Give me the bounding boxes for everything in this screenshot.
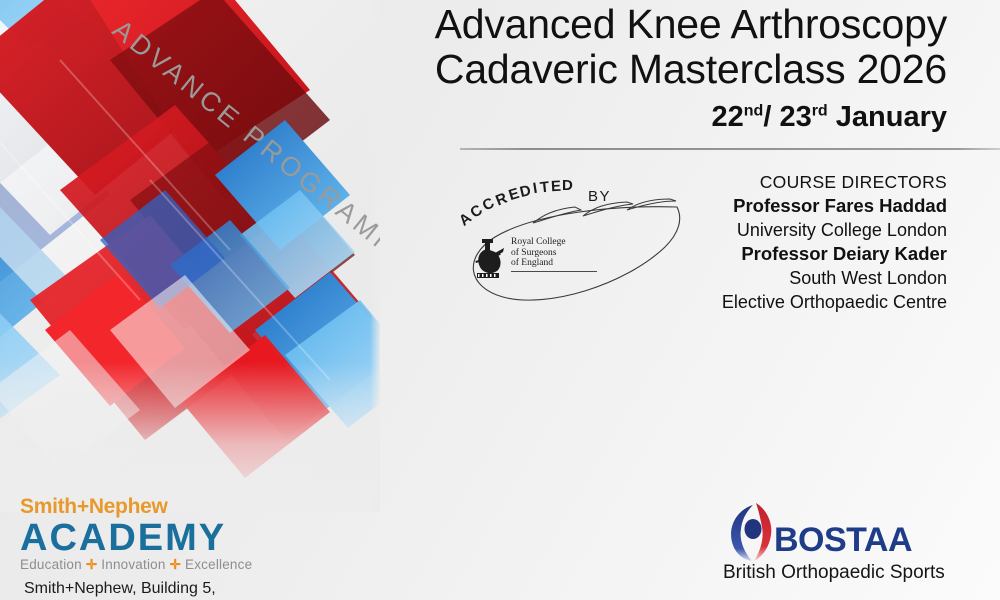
crest-line-3: of England xyxy=(511,258,566,269)
venue-address: Smith+Nephew, Building 5, xyxy=(24,580,216,598)
abstract-graphic: ADVANCE PROGRAMME xyxy=(0,0,380,512)
royal-college-crest: Royal College of Surgeons of England xyxy=(473,237,603,282)
director-2-name: Professor Deiary Kader xyxy=(600,242,947,266)
crest-line-1: Royal College xyxy=(511,237,566,248)
bostaa-acronym: BOSTAA xyxy=(774,522,912,558)
bostaa-subtitle: British Orthopaedic Sports xyxy=(723,562,945,584)
date-day-1: 22 xyxy=(712,101,744,133)
tagline-word-2: Innovation xyxy=(101,557,165,572)
crest-line-2: of Surgeons xyxy=(511,248,566,259)
date-separator: / xyxy=(763,101,771,133)
date-day-2: 23 xyxy=(779,101,811,133)
tagline-word-3: Excellence xyxy=(185,557,252,572)
date-day-1-suffix: nd xyxy=(744,102,764,119)
academy-tagline: Education ✛ Innovation ✛ Excellence xyxy=(20,557,280,573)
course-dates: 22nd/ 23rd January xyxy=(420,101,947,134)
director-1-affiliation: University College London xyxy=(600,218,947,242)
brand-plus-icon: + xyxy=(77,495,89,518)
director-2-affiliation-line-1: South West London xyxy=(600,266,947,290)
title-line-2: Cadaveric Masterclass 2026 xyxy=(420,47,947,92)
crest-emblem-icon xyxy=(473,237,507,281)
tagline-plus-icon-2: ✛ xyxy=(170,557,182,572)
smith-nephew-wordmark: Smith+Nephew xyxy=(20,496,280,518)
academy-wordmark: ACADEMY xyxy=(20,518,280,558)
date-month: January xyxy=(836,101,947,133)
header-divider xyxy=(460,148,1000,150)
director-1-name: Professor Fares Haddad xyxy=(600,194,947,218)
brand-part-2: Nephew xyxy=(89,495,168,518)
title-line-1: Advanced Knee Arthroscopy xyxy=(420,2,947,47)
director-2-affiliation-line-2: Elective Orthopaedic Centre xyxy=(600,290,947,314)
poster-canvas: ADVANCE PROGRAMME Advanced Knee Arthrosc… xyxy=(0,0,1000,600)
crest-underline xyxy=(511,271,597,272)
page-title: Advanced Knee Arthroscopy Cadaveric Mast… xyxy=(420,2,947,92)
brand-part-1: Smith xyxy=(20,495,77,518)
course-directors-heading: COURSE DIRECTORS xyxy=(600,170,947,194)
smith-nephew-academy-logo: Smith+Nephew ACADEMY Education ✛ Innovat… xyxy=(20,496,280,573)
tagline-plus-icon-1: ✛ xyxy=(86,557,98,572)
bostaa-logo: BOSTAA British Orthopaedic Sports xyxy=(726,500,996,562)
course-directors-block: COURSE DIRECTORS Professor Fares Haddad … xyxy=(600,170,947,314)
date-day-2-suffix: rd xyxy=(812,102,828,119)
crest-text: Royal College of Surgeons of England xyxy=(511,237,566,269)
tagline-word-1: Education xyxy=(20,557,82,572)
